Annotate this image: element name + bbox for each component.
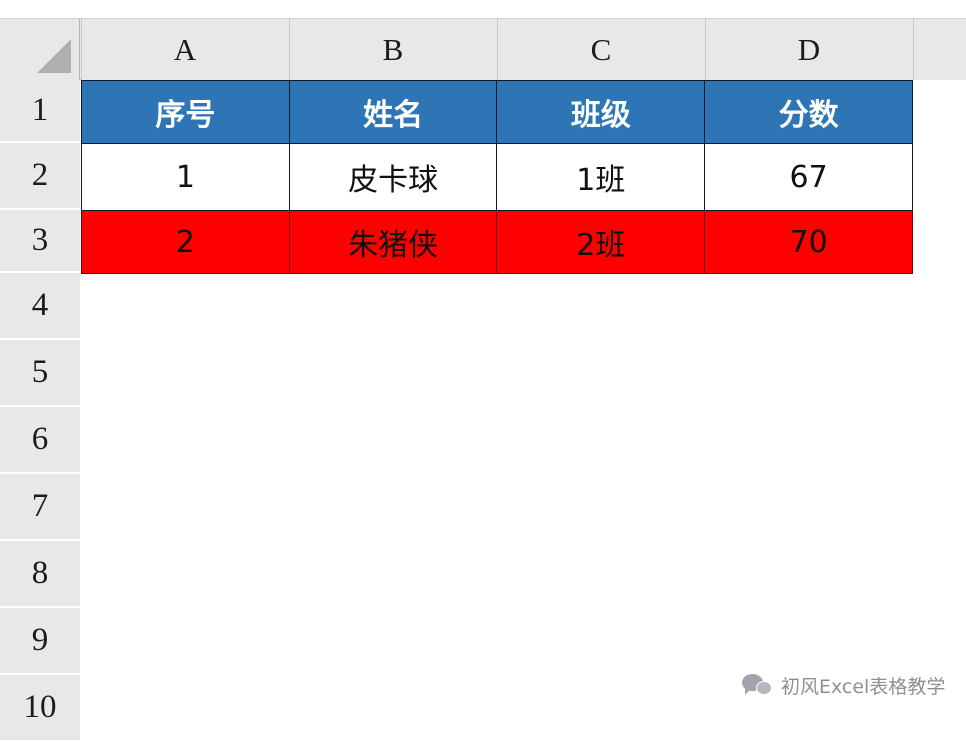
cell-c2[interactable]: 1班 bbox=[497, 144, 705, 211]
row-header-10[interactable]: 10 bbox=[0, 675, 80, 742]
row-header-3[interactable]: 3 bbox=[0, 210, 80, 273]
cell-a3[interactable]: 2 bbox=[82, 211, 290, 274]
watermark-text: 初风Excel表格教学 bbox=[781, 672, 945, 699]
row-header-7[interactable]: 7 bbox=[0, 474, 80, 541]
wechat-bubble-small bbox=[756, 681, 772, 695]
select-all-triangle-icon bbox=[37, 39, 71, 73]
row-header-6[interactable]: 6 bbox=[0, 407, 80, 474]
cell-d3[interactable]: 70 bbox=[705, 211, 913, 274]
row-header-column: 1 2 3 4 5 6 7 8 9 10 bbox=[0, 80, 80, 740]
column-header-d[interactable]: D bbox=[705, 19, 913, 80]
row-header-4[interactable]: 4 bbox=[0, 273, 80, 340]
cell-b1[interactable]: 姓名 bbox=[289, 81, 497, 144]
cell-a1[interactable]: 序号 bbox=[82, 81, 290, 144]
column-header-b[interactable]: B bbox=[289, 19, 497, 80]
select-all-corner[interactable] bbox=[0, 19, 80, 80]
cell-b3[interactable]: 朱猪侠 bbox=[289, 211, 497, 274]
cell-d1[interactable]: 分数 bbox=[705, 81, 913, 144]
spreadsheet-grid: A B C D 1 2 3 4 5 6 7 8 9 10 序号 姓名 班级 分数… bbox=[0, 0, 966, 740]
row-header-9[interactable]: 9 bbox=[0, 608, 80, 675]
row-header-8[interactable]: 8 bbox=[0, 541, 80, 608]
table-row: 1 皮卡球 1班 67 bbox=[82, 144, 913, 211]
cell-b2[interactable]: 皮卡球 bbox=[289, 144, 497, 211]
data-table: 序号 姓名 班级 分数 1 皮卡球 1班 67 2 朱猪侠 2班 70 bbox=[81, 80, 913, 274]
row-header-5[interactable]: 5 bbox=[0, 340, 80, 407]
table-row-highlighted: 2 朱猪侠 2班 70 bbox=[82, 211, 913, 274]
column-header-strip: A B C D bbox=[0, 18, 966, 80]
wechat-logo-icon bbox=[742, 673, 772, 699]
cell-a2[interactable]: 1 bbox=[82, 144, 290, 211]
column-header-c[interactable]: C bbox=[497, 19, 705, 80]
row-header-2[interactable]: 2 bbox=[0, 143, 80, 210]
row-header-1[interactable]: 1 bbox=[0, 80, 80, 143]
cell-c3[interactable]: 2班 bbox=[497, 211, 705, 274]
table-header-row: 序号 姓名 班级 分数 bbox=[82, 81, 913, 144]
watermark: 初风Excel表格教学 bbox=[742, 672, 945, 699]
cell-d2[interactable]: 67 bbox=[705, 144, 913, 211]
cell-c1[interactable]: 班级 bbox=[497, 81, 705, 144]
column-header-a[interactable]: A bbox=[81, 19, 289, 80]
column-header-e-partial[interactable] bbox=[913, 19, 966, 80]
